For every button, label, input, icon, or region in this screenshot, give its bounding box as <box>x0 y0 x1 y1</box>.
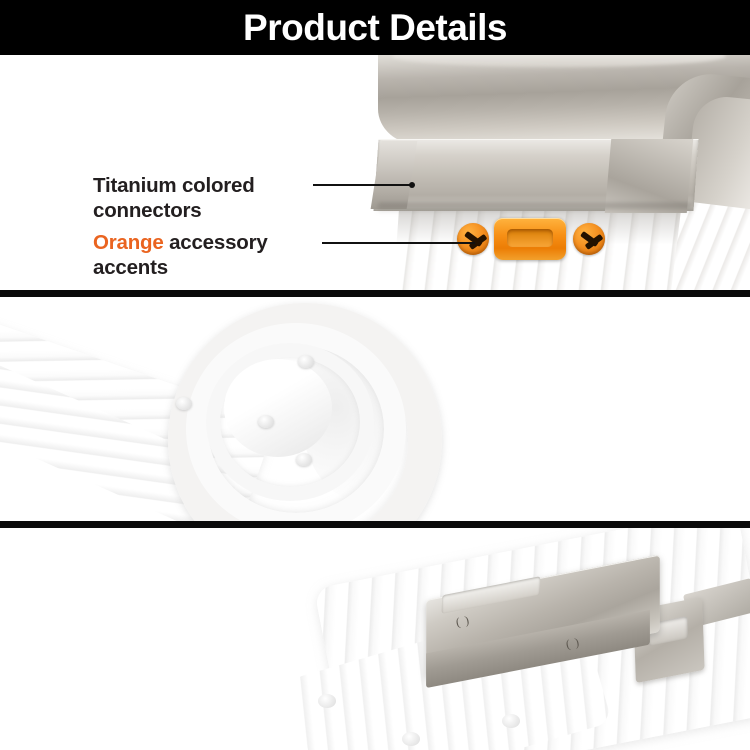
strap-stud <box>298 355 314 368</box>
orange-accent-button <box>494 218 566 260</box>
callout-line-2: accents <box>93 256 168 279</box>
connector-shadow <box>378 203 693 213</box>
section-divider-1 <box>0 290 750 297</box>
steel-buckle-image: ( ) ( ) <box>0 528 750 750</box>
leader-line-titanium <box>313 184 412 186</box>
leader-line-orange <box>322 242 475 244</box>
callout-orange-accents: Orange accessory accents <box>93 230 333 280</box>
strap-stud <box>258 415 274 428</box>
orange-screw-left <box>457 223 489 255</box>
coil-core <box>224 359 332 457</box>
callout-accent-word: Orange <box>93 231 164 254</box>
callout-line-2: connectors <box>93 199 202 222</box>
leader-dot-titanium <box>409 182 415 188</box>
product-details-infographic: Product Details <box>0 0 750 750</box>
strap-stud <box>502 714 520 728</box>
page-title: Product Details <box>0 0 750 55</box>
buckle-engraving-left: ( ) <box>455 613 472 630</box>
white-ribbed-strap-right <box>670 201 750 290</box>
strap-stud <box>402 732 420 746</box>
orange-screw-right <box>573 223 605 255</box>
callout-titanium-connectors: Titanium colored connectors <box>93 173 323 223</box>
buckle-engraving-right: ( ) <box>565 635 582 652</box>
connector-section: Titanium colored connectors Orange acces… <box>0 55 750 290</box>
strap-stud <box>176 397 192 410</box>
connector-right-tab <box>605 139 693 213</box>
section-divider-2 <box>0 521 750 528</box>
callout-line-1: Titanium colored <box>93 174 255 197</box>
callout-line-1-rest: accessory <box>164 231 268 254</box>
strap-stud <box>296 453 312 466</box>
strap-stud <box>318 694 336 708</box>
buckle-section: ( ) ( ) 316L steel folding Buckle <box>0 528 750 750</box>
strap-section: Lightweight, soft and flattering to the … <box>0 297 750 521</box>
coiled-strap-image <box>0 297 750 521</box>
